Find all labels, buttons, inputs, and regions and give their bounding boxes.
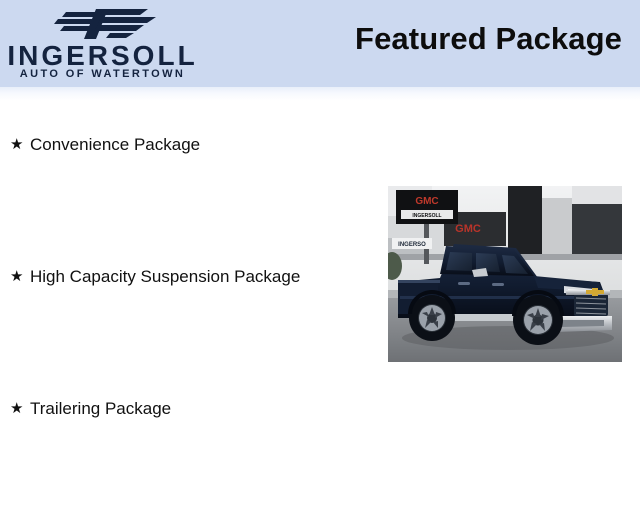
svg-text:INGERSO: INGERSO: [398, 242, 426, 248]
list-item: ★ Convenience Package: [0, 134, 380, 266]
feature-label: High Capacity Suspension Package: [30, 266, 380, 287]
header-gradient-fade: [0, 87, 640, 101]
feature-label: Convenience Package: [30, 134, 380, 155]
svg-text:INGERSOLL: INGERSOLL: [412, 213, 441, 219]
page-title: Featured Package: [355, 22, 622, 56]
star-bullet-icon: ★: [10, 135, 23, 155]
star-bullet-icon: ★: [10, 267, 23, 287]
svg-text:GMC: GMC: [415, 196, 438, 207]
dealer-logo: INGERSOLL AUTO OF WATERTOWN: [0, 2, 205, 84]
svg-text:GMC: GMC: [455, 223, 481, 235]
list-item: ★ High Capacity Suspension Package: [0, 266, 380, 398]
star-bullet-icon: ★: [10, 399, 23, 419]
feature-label: Trailering Package: [30, 398, 380, 419]
vehicle-photo: GMC INGERSOLL GMC INGERSO: [388, 186, 622, 362]
logo-tagline: AUTO OF WATERTOWN: [0, 69, 205, 80]
ingersoll-wing-logo-icon: [52, 6, 160, 42]
logo-wordmark: INGERSOLL: [0, 42, 205, 70]
feature-list: ★ Convenience Package ★ High Capacity Su…: [0, 134, 380, 530]
list-item: ★ Trailering Package: [0, 398, 380, 530]
